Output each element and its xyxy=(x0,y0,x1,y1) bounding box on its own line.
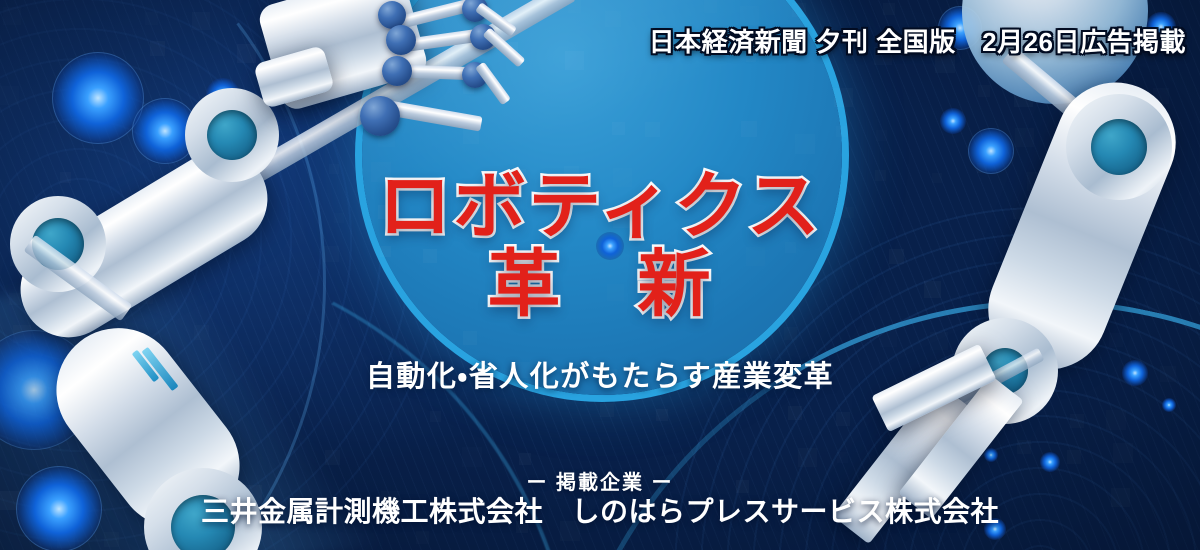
bokeh-orb xyxy=(984,448,998,462)
bokeh-orb xyxy=(1162,398,1176,412)
subtitle: 自動化・省人化がもたらす産業変革 xyxy=(0,353,1200,395)
robot-finger-joint xyxy=(382,56,412,86)
headline-line-1: ロボティクス xyxy=(0,168,1200,246)
robotics-ad-banner: 日本経済新聞 夕刊 全国版 2月26日広告掲載 ロボティクス 革 新 自動化・省… xyxy=(0,0,1200,550)
robot-thumb-joint xyxy=(360,96,400,136)
publication-kicker: 日本経済新聞 夕刊 全国版 2月26日広告掲載 xyxy=(649,22,1186,59)
headline-block: ロボティクス 革 新 xyxy=(0,168,1200,324)
credit-company-names: 三井金属計測機工株式会社 しのはらプレスサービス株式会社 xyxy=(0,490,1200,530)
headline-line-2: 革 新 xyxy=(0,246,1200,324)
bokeh-orb xyxy=(52,52,144,144)
robot-finger-joint xyxy=(386,25,416,55)
bokeh-orb xyxy=(940,108,966,134)
